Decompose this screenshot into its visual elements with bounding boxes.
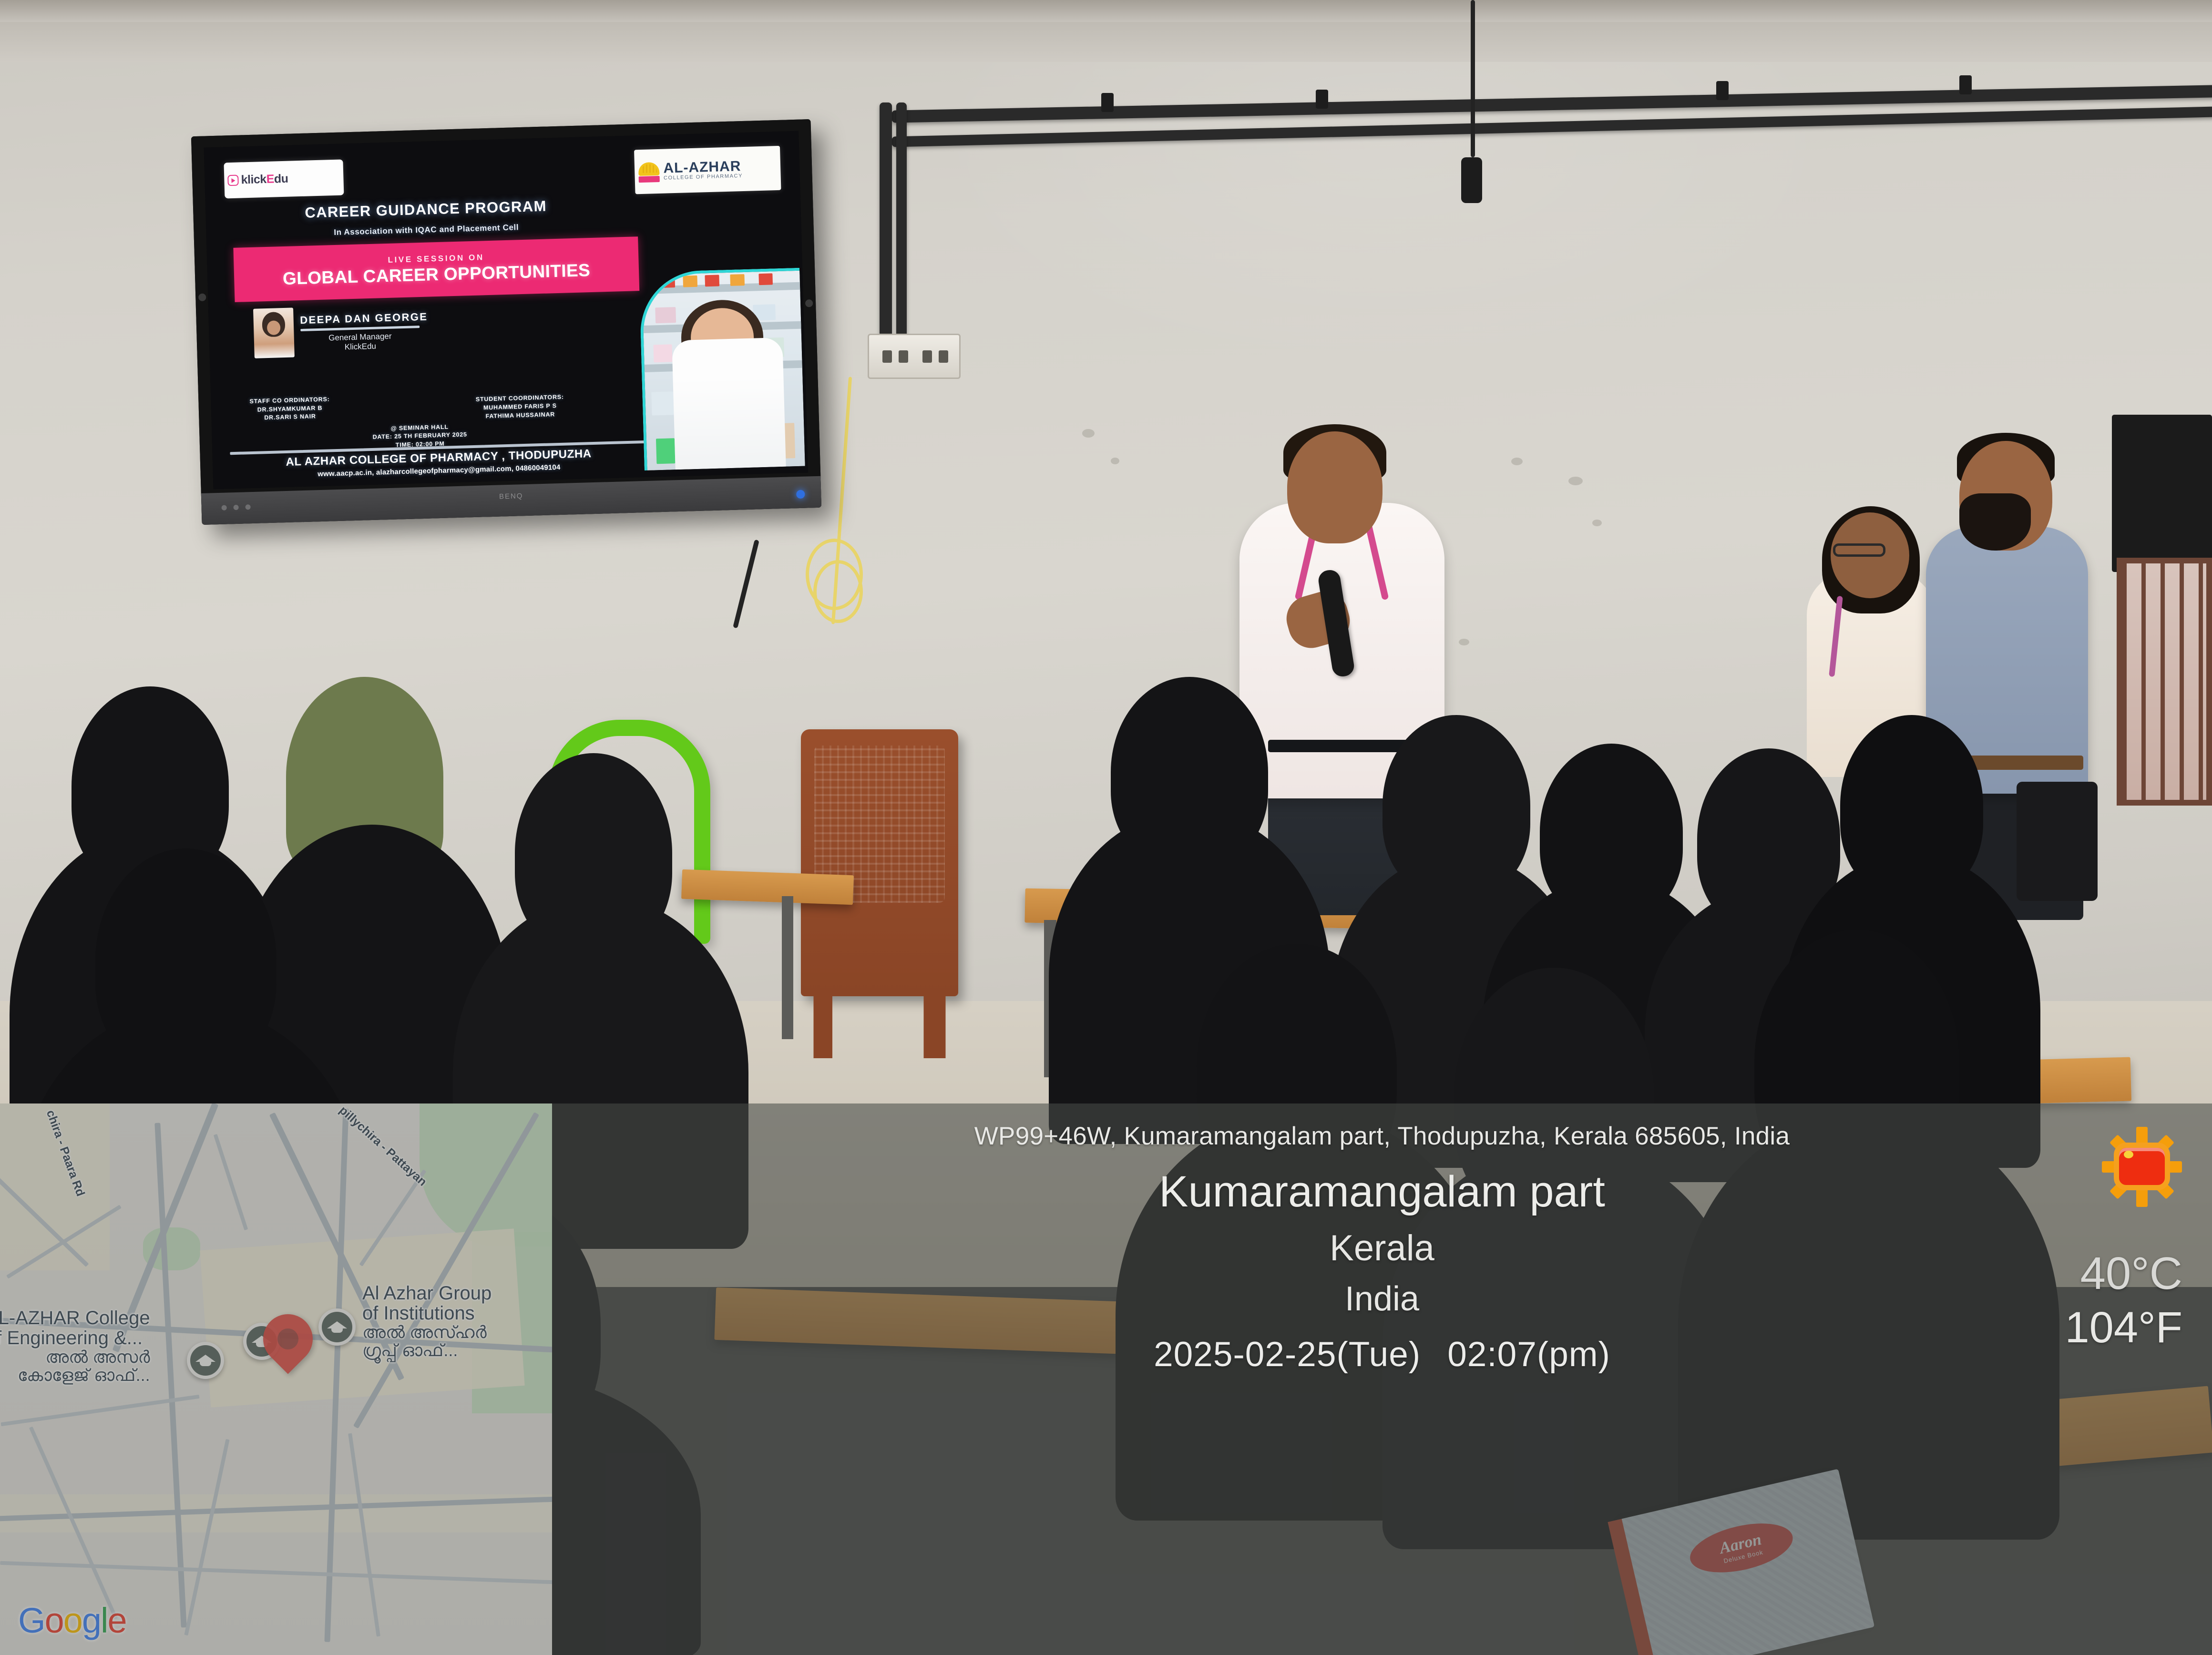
electrical-conduit-vertical bbox=[896, 102, 907, 341]
slide-subtitle: In Association with IQAC and Placement C… bbox=[242, 220, 611, 240]
slide-title: CAREER GUIDANCE PROGRAM bbox=[241, 196, 610, 224]
yellow-cable-coil bbox=[813, 560, 863, 623]
sun-icon bbox=[2101, 1126, 2182, 1207]
location-city: Kumaramangalam part bbox=[1159, 1167, 1605, 1217]
standing-man-beard bbox=[1959, 493, 2031, 551]
speaker-portrait bbox=[253, 307, 295, 358]
display-screen: klickEdu AL-AZHAR COLLEGE OF PHARMACY CA… bbox=[204, 131, 809, 490]
wall-blemish bbox=[1082, 429, 1095, 438]
hanging-cable bbox=[1471, 0, 1475, 157]
desk-leg bbox=[782, 896, 793, 1039]
speaker-divider bbox=[300, 326, 420, 331]
classroom-desk bbox=[681, 869, 854, 905]
student-coordinators-block: STUDENT COORDINATORS: MUHAMMED FARIS P S… bbox=[476, 393, 565, 421]
slide-highlight-band: LIVE SESSION ON GLOBAL CAREER OPPORTUNIT… bbox=[234, 236, 639, 302]
wall-blemish bbox=[1111, 458, 1119, 464]
conduit-clip bbox=[1959, 75, 1972, 94]
presentation-slide: klickEdu AL-AZHAR COLLEGE OF PHARMACY CA… bbox=[204, 131, 809, 490]
geotagged-photo-screen: klickEdu AL-AZHAR COLLEGE OF PHARMACY CA… bbox=[0, 0, 2212, 1655]
location-address: WP99+46W, Kumaramangalam part, Thodupuzh… bbox=[552, 1122, 2212, 1151]
temperature-fahrenheit: 104°F bbox=[2065, 1303, 2183, 1353]
alazhar-pharmacy-logo: AL-AZHAR COLLEGE OF PHARMACY bbox=[634, 146, 781, 194]
location-state: Kerala bbox=[1330, 1227, 1434, 1269]
wall-blemish bbox=[1511, 458, 1523, 465]
shoulder-bag bbox=[2017, 782, 2098, 901]
gps-camera-overlay: chira - Paara Rd pillychira - Pattayan A… bbox=[0, 1103, 2212, 1655]
map-thumbnail[interactable]: chira - Paara Rd pillychira - Pattayan A… bbox=[0, 1103, 552, 1655]
conduit-clip bbox=[1316, 90, 1328, 109]
display-indicator-dots bbox=[221, 504, 250, 511]
alazhar-logo-sub: COLLEGE OF PHARMACY bbox=[664, 174, 743, 181]
power-socket-box bbox=[868, 334, 961, 379]
wall-blemish bbox=[1568, 477, 1583, 485]
weather-block: 40°C 104°F bbox=[2065, 1126, 2183, 1353]
map-canvas: chira - Paara Rd pillychira - Pattayan A… bbox=[0, 1103, 552, 1655]
conduit-clip bbox=[1716, 81, 1729, 100]
klickedu-logo: klickEdu bbox=[224, 159, 344, 198]
capture-date: 2025-02-25(Tue) bbox=[1154, 1335, 1421, 1374]
window bbox=[2117, 558, 2212, 806]
electrical-conduit-vertical bbox=[880, 102, 892, 360]
klickedu-play-icon bbox=[227, 175, 239, 186]
klickedu-logo-text: klickEdu bbox=[241, 172, 288, 187]
ceiling-edge bbox=[0, 0, 2212, 22]
temperature-celsius: 40°C bbox=[2080, 1247, 2183, 1300]
standing-woman-glasses bbox=[1833, 543, 1885, 557]
gps-info-panel: WP99+46W, Kumaramangalam part, Thodupuzh… bbox=[552, 1103, 2212, 1655]
pharmacy-photo bbox=[639, 268, 805, 470]
slide-speaker-block: DEEPA DAN GEORGE General Manager KlickEd… bbox=[253, 304, 429, 358]
map-overlay-tint bbox=[0, 1103, 552, 1655]
display-brand-label: BENQ bbox=[499, 492, 523, 501]
ceiling-microphone bbox=[1461, 157, 1482, 203]
brown-plastic-chair bbox=[801, 729, 958, 996]
speaker-head bbox=[1287, 431, 1382, 543]
wall-speaker-box bbox=[2112, 415, 2212, 572]
interactive-display[interactable]: klickEdu AL-AZHAR COLLEGE OF PHARMACY CA… bbox=[191, 119, 821, 525]
alazhar-sunburst-icon bbox=[638, 161, 660, 183]
wall-blemish bbox=[1592, 520, 1602, 526]
conduit-clip bbox=[1101, 93, 1114, 112]
slide-band-main-text: GLOBAL CAREER OPPORTUNITIES bbox=[282, 260, 590, 289]
timestamp: 2025-02-25(Tue) 02:07(pm) bbox=[1154, 1335, 1610, 1374]
capture-time: 02:07(pm) bbox=[1447, 1335, 1610, 1374]
location-country: India bbox=[1345, 1279, 1419, 1318]
slide-band-top-text: LIVE SESSION ON bbox=[388, 253, 484, 265]
window-grille bbox=[2122, 563, 2206, 800]
speaker-name: DEEPA DAN GEORGE bbox=[300, 310, 428, 326]
staff-coordinators-block: STAFF CO ORDINATORS: DR.SHYAMKUMAR B DR.… bbox=[249, 395, 330, 423]
wall-blemish bbox=[1459, 639, 1469, 645]
